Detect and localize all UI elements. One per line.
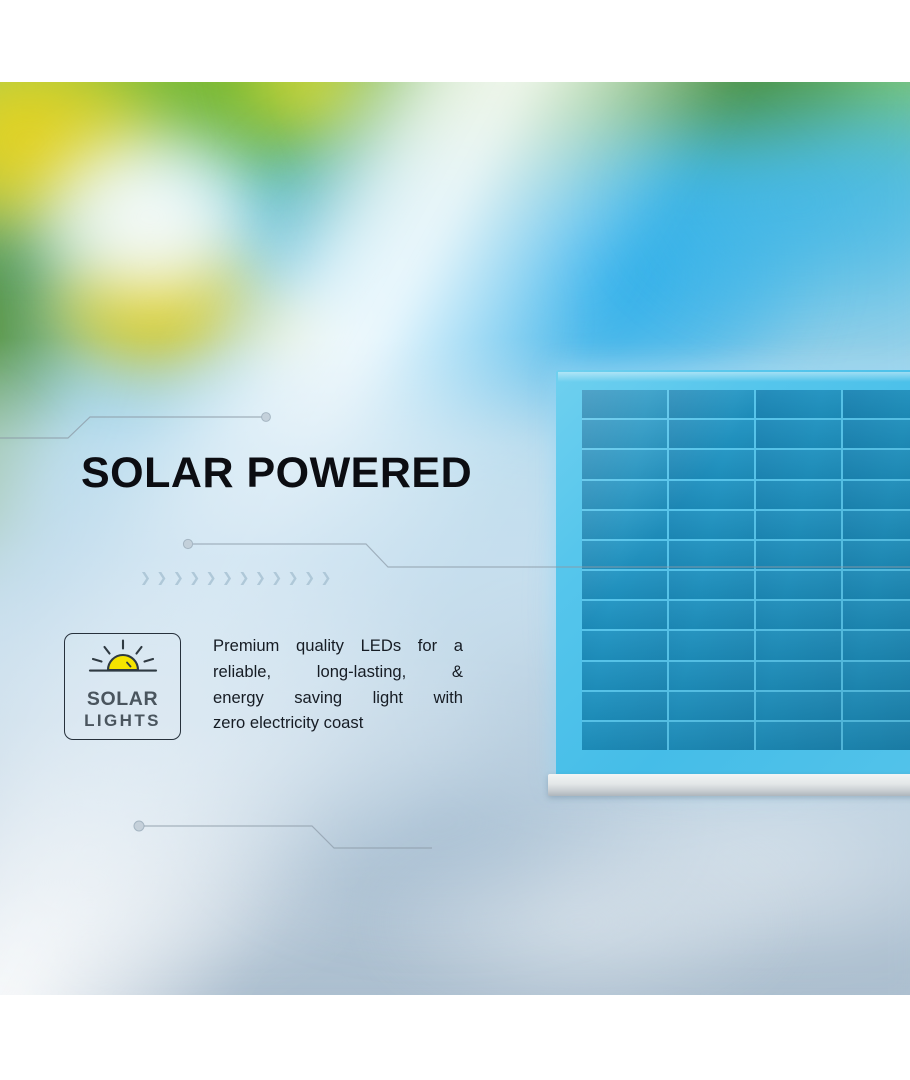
panel-cell	[756, 722, 841, 750]
panel-cell	[669, 692, 754, 722]
panel-cell	[843, 541, 910, 571]
feature-description: PremiumqualityLEDsfora reliable,long-las…	[213, 633, 463, 736]
panel-cell-grid	[582, 390, 910, 750]
feature-block: SOLAR LIGHTS PremiumqualityLEDsfora reli…	[64, 633, 463, 740]
badge-line-lights: LIGHTS	[84, 710, 161, 732]
panel-cell	[669, 571, 754, 601]
panel-cell	[669, 601, 754, 631]
chevron-accent-row: ❯ ❯ ❯ ❯ ❯ ❯ ❯ ❯ ❯ ❯ ❯ ❯	[140, 572, 331, 585]
panel-cell	[669, 390, 754, 420]
panel-cell	[582, 450, 667, 480]
panel-column	[756, 390, 843, 750]
panel-cell	[669, 541, 754, 571]
panel-cell	[582, 511, 667, 541]
panel-cell	[582, 601, 667, 631]
panel-cell	[582, 481, 667, 511]
panel-cell	[843, 571, 910, 601]
panel-cell	[669, 511, 754, 541]
panel-cell	[669, 662, 754, 692]
panel-cell	[756, 481, 841, 511]
chevron-icon: ❯	[140, 572, 151, 585]
panel-column	[582, 390, 669, 750]
panel-column	[843, 390, 910, 750]
panel-cell	[669, 631, 754, 661]
chevron-icon: ❯	[206, 572, 217, 585]
panel-cell	[843, 601, 910, 631]
panel-cell	[582, 662, 667, 692]
poster-canvas: ❯ ❯ ❯ ❯ ❯ ❯ ❯ ❯ ❯ ❯ ❯ ❯ SOLAR POWERED	[0, 0, 910, 1080]
chevron-icon: ❯	[288, 572, 299, 585]
panel-cell	[843, 420, 910, 450]
panel-cell	[582, 722, 667, 750]
chevron-icon: ❯	[255, 572, 266, 585]
panel-cell	[756, 390, 841, 420]
panel-cell	[756, 511, 841, 541]
panel-cell	[756, 631, 841, 661]
chevron-icon: ❯	[320, 572, 331, 585]
panel-cell	[843, 450, 910, 480]
panel-cell	[843, 722, 910, 750]
solar-panel	[556, 370, 910, 782]
chevron-icon: ❯	[173, 572, 184, 585]
panel-cell	[756, 601, 841, 631]
panel-cell	[756, 692, 841, 722]
panel-cell	[843, 390, 910, 420]
panel-base-rail	[548, 774, 910, 796]
chevron-icon: ❯	[304, 572, 315, 585]
panel-cell	[582, 692, 667, 722]
chevron-icon: ❯	[156, 572, 167, 585]
panel-cell	[756, 541, 841, 571]
chevron-icon: ❯	[238, 572, 249, 585]
solar-lights-badge: SOLAR LIGHTS	[64, 633, 181, 740]
background-photo	[0, 82, 910, 995]
panel-cell	[756, 420, 841, 450]
panel-cell	[669, 450, 754, 480]
panel-cell	[582, 420, 667, 450]
badge-line-solar: SOLAR	[87, 689, 158, 710]
panel-cell	[843, 692, 910, 722]
description-line: reliable,long-lasting,&	[213, 659, 463, 685]
panel-cell	[669, 722, 754, 750]
panel-cell	[582, 541, 667, 571]
panel-frame-highlight	[558, 372, 910, 382]
panel-column	[669, 390, 756, 750]
chevron-icon: ❯	[222, 572, 233, 585]
panel-cell	[756, 450, 841, 480]
panel-cell	[843, 511, 910, 541]
panel-cell	[843, 481, 910, 511]
panel-cell	[756, 662, 841, 692]
panel-cell	[669, 481, 754, 511]
panel-cell	[843, 631, 910, 661]
page-title: SOLAR POWERED	[81, 452, 472, 495]
panel-cell	[756, 571, 841, 601]
chevron-icon: ❯	[189, 572, 200, 585]
panel-cell	[582, 571, 667, 601]
description-line: PremiumqualityLEDsfora	[213, 633, 463, 659]
sun-rays-icon	[82, 639, 164, 684]
panel-cell	[582, 631, 667, 661]
chevron-icon: ❯	[271, 572, 282, 585]
description-line: zero electricity coast	[213, 710, 463, 736]
description-line: energysavinglightwith	[213, 685, 463, 711]
panel-cell	[582, 390, 667, 420]
panel-cell	[669, 420, 754, 450]
panel-cell	[843, 662, 910, 692]
